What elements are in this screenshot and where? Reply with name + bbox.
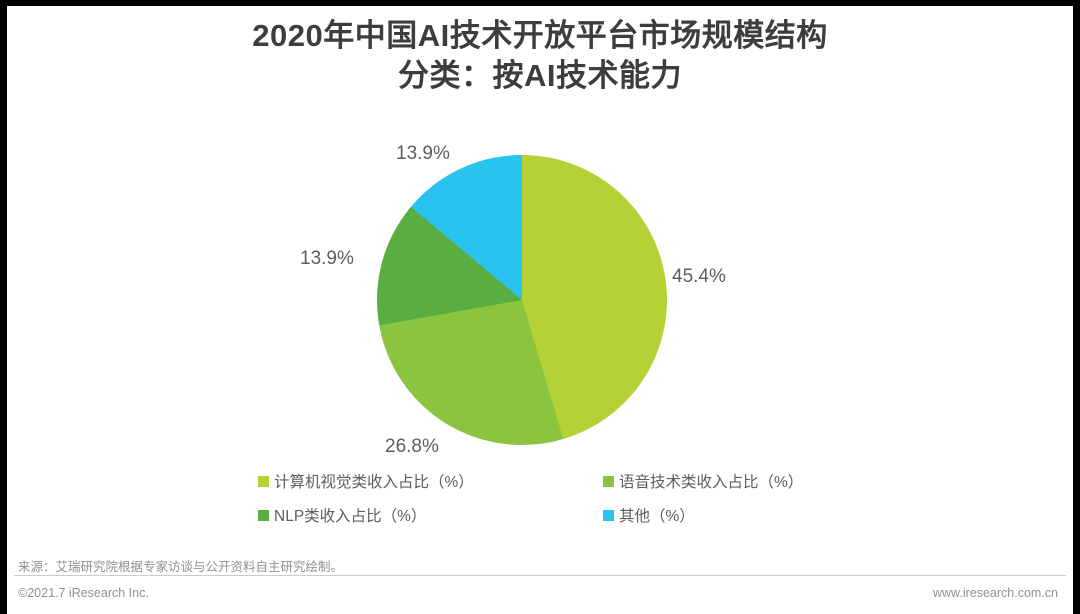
source-note: 来源：艾瑞研究院根据专家访谈与公开资料自主研究绘制。: [18, 556, 343, 575]
pie-data-label-computer-vision: 45.4%: [672, 266, 726, 288]
footer-divider: [14, 575, 1066, 576]
pie-data-label-other: 13.9%: [396, 143, 450, 165]
legend-swatch-icon: [603, 476, 614, 487]
pie-data-label-nlp: 13.9%: [300, 248, 354, 270]
legend-item-nlp[interactable]: NLP类收入占比（%）: [258, 504, 603, 526]
legend-swatch-icon: [603, 510, 614, 521]
legend-item-speech[interactable]: 语音技术类收入占比（%）: [603, 470, 858, 492]
chart-title: 2020年中国AI技术开放平台市场规模结构 分类：按AI技术能力: [0, 16, 1080, 96]
legend-item-other[interactable]: 其他（%）: [603, 504, 858, 526]
legend-label: 语音技术类收入占比（%）: [619, 470, 803, 492]
chart-title-line-1: 2020年中国AI技术开放平台市场规模结构: [0, 16, 1080, 56]
legend-swatch-icon: [258, 476, 269, 487]
copyright-note: ©2021.7 iResearch Inc.: [18, 586, 149, 600]
legend-label: 其他（%）: [619, 504, 695, 526]
legend-swatch-icon: [258, 510, 269, 521]
slide-frame-top: [0, 0, 1080, 6]
chart-legend: 计算机视觉类收入占比（%） 语音技术类收入占比（%） NLP类收入占比（%） 其…: [258, 470, 858, 526]
pie-disc: [377, 155, 667, 445]
legend-item-computer-vision[interactable]: 计算机视觉类收入占比（%）: [258, 470, 603, 492]
legend-label: NLP类收入占比（%）: [274, 504, 426, 526]
legend-label: 计算机视觉类收入占比（%）: [274, 470, 474, 492]
pie-data-label-speech: 26.8%: [385, 436, 439, 458]
chart-title-line-2: 分类：按AI技术能力: [0, 56, 1080, 96]
pie-chart: [377, 155, 667, 445]
slide-canvas: 2020年中国AI技术开放平台市场规模结构 分类：按AI技术能力 45.4% 2…: [0, 0, 1080, 614]
website-link[interactable]: www.iresearch.com.cn: [933, 586, 1058, 600]
